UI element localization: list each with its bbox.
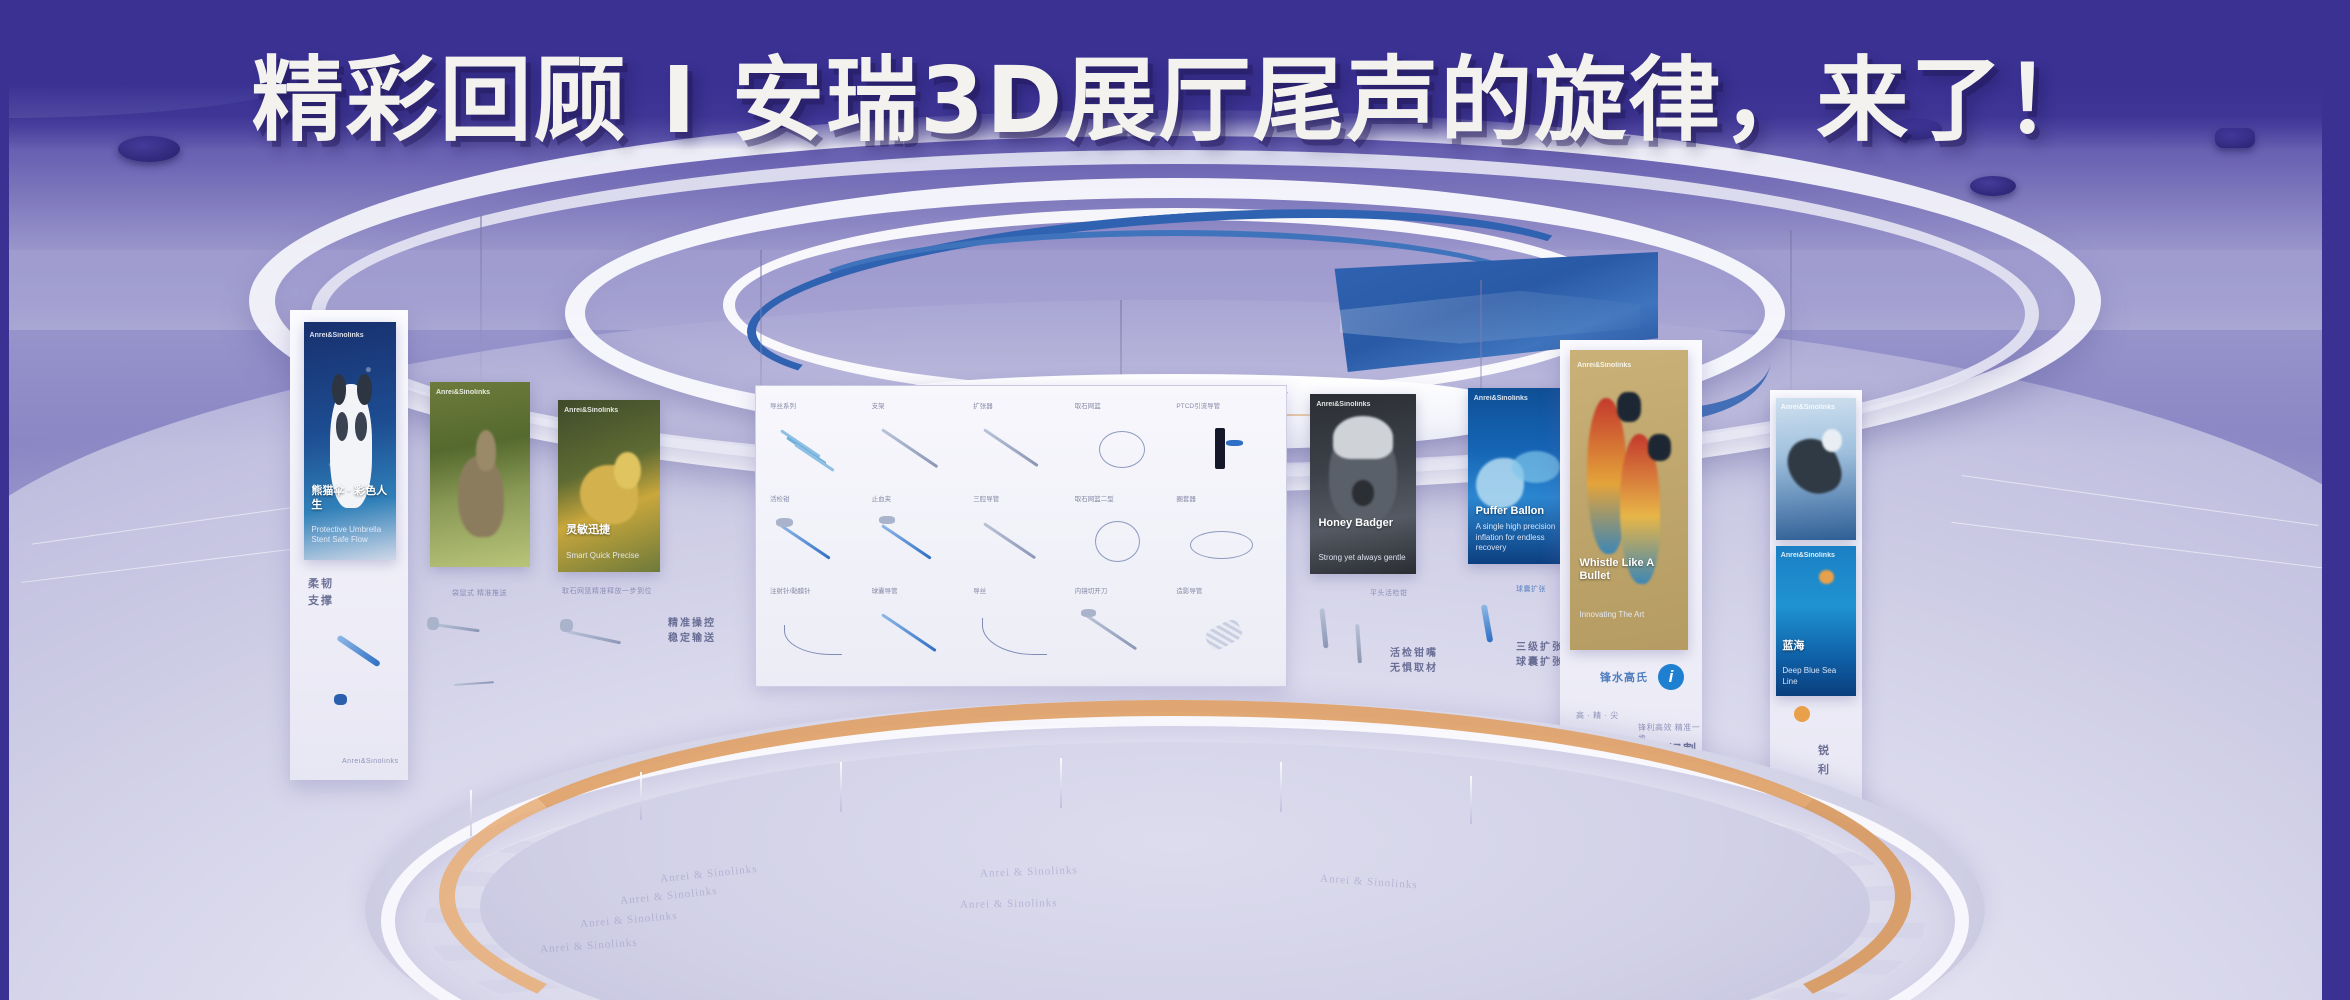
product-cell[interactable]: 造影导管 xyxy=(1174,585,1274,676)
panda-ear-icon xyxy=(357,374,372,405)
exhibition-hall-banner: Anrei&Sinolinks Keep Safe Keep Life Anre… xyxy=(0,0,2350,1000)
poster-brandtag: Anrei&Sinolinks xyxy=(1781,552,1835,559)
poster-title: Whistle Like A Bullet xyxy=(1579,557,1678,585)
product-cell[interactable]: 止血夹 xyxy=(870,493,970,584)
product-label: 扩张器 xyxy=(973,400,993,410)
poster-brandtag: Anrei&Sinolinks xyxy=(310,332,364,339)
poster-badger[interactable]: Anrei&Sinolinks Honey Badger Strong yet … xyxy=(1310,394,1416,574)
device-illustration xyxy=(1470,600,1510,710)
page-title: 精彩回顾 I 安瑞3D展厅尾声的旋律，来了！ xyxy=(0,26,2350,159)
railing-post xyxy=(840,762,842,812)
product-label: 造影导管 xyxy=(1176,585,1202,595)
poster-title: 灵敏迅捷 xyxy=(566,524,652,538)
poster-caption-en: 取石网篮精准释放一步到位 xyxy=(562,586,652,596)
product-cell[interactable]: 圈套器 xyxy=(1174,493,1274,584)
badger-crown-icon xyxy=(1333,416,1392,459)
product-label: 支架 xyxy=(872,400,885,410)
device-illustration xyxy=(334,630,404,740)
product-label: 内镜切开刀 xyxy=(1075,585,1108,595)
stand-eagle: Anrei&Sinolinks Anrei&Sinolinks 蓝海 Deep … xyxy=(1770,390,1862,810)
product-label: 圈套器 xyxy=(1176,493,1196,503)
poster-brandtag: Anrei&Sinolinks xyxy=(436,389,490,396)
poster-ocean[interactable]: Anrei&Sinolinks Puffer Ballon A single h… xyxy=(1468,388,1564,564)
product-cell[interactable]: 内镜切开刀 xyxy=(1073,585,1173,676)
left-edge-border xyxy=(0,0,9,1000)
product-cell[interactable]: 注射针/黏膜针 xyxy=(768,585,868,676)
sun-icon xyxy=(1819,570,1833,584)
product-cell[interactable]: PTCD引流导管 xyxy=(1174,400,1274,491)
poster-caption-en: 球囊扩张 xyxy=(1516,584,1546,594)
poster-brandtag: Anrei&Sinolinks xyxy=(564,407,618,414)
product-label: 止血夹 xyxy=(872,493,892,503)
poster-subtitle: A single high precision inflation for en… xyxy=(1476,522,1557,553)
poster-frog[interactable]: Anrei&Sinolinks 灵敏迅捷 Smart Quick Precise xyxy=(558,400,660,572)
product-cell[interactable]: 三腔导管 xyxy=(971,493,1071,584)
product-grid-panel[interactable]: 导丝系列 支架 扩张器 取石网篮 PTCD引流导管 活检钳 止血夹 三腔导管 取… xyxy=(755,385,1287,687)
badger-nose-icon xyxy=(1352,480,1373,505)
poster-title: 蓝海 xyxy=(1782,640,1849,654)
product-label: 注射针/黏膜针 xyxy=(770,585,811,595)
product-grid: 导丝系列 支架 扩张器 取石网篮 PTCD引流导管 活检钳 止血夹 三腔导管 取… xyxy=(768,400,1274,676)
product-label: 三腔导管 xyxy=(973,493,999,503)
poster-bird[interactable]: Anrei&Sinolinks Whistle Like A Bullet In… xyxy=(1570,350,1688,650)
poster-subtitle: Deep Blue Sea Line xyxy=(1782,666,1849,687)
kangaroo-head-icon xyxy=(476,430,496,471)
poster-title: Honey Badger xyxy=(1318,517,1407,531)
badge-letter: i xyxy=(1669,667,1674,687)
product-cell[interactable]: 导丝系列 xyxy=(768,400,868,491)
bird-beak-icon xyxy=(1617,392,1641,422)
stand-brand-cn: 锋水高氏 xyxy=(1600,670,1648,687)
product-cell[interactable]: 球囊导管 xyxy=(870,585,970,676)
railing-post xyxy=(1280,762,1282,812)
poster-caption-en: 袋鼠式 精准推送 xyxy=(452,588,507,598)
accent-badge-icon xyxy=(1794,706,1810,722)
device-illustration xyxy=(1346,618,1392,706)
right-edge-border xyxy=(2322,0,2350,1000)
poster-kangaroo[interactable]: Anrei&Sinolinks xyxy=(430,382,530,567)
poster-brandtag: Anrei&Sinolinks xyxy=(1577,362,1631,369)
poster-subtitle: Protective Umbrella Stent Safe Flow xyxy=(311,525,388,546)
poster-subtitle: Smart Quick Precise xyxy=(566,551,652,561)
product-cell[interactable]: 支架 xyxy=(870,400,970,491)
poster-caption-cn: 精准操控 稳定输送 xyxy=(668,616,716,646)
railing-post xyxy=(1060,758,1062,808)
stand-panda: Anrei&Sinolinks 熊猫伞 · 彩色人生 Protective Um… xyxy=(290,310,408,780)
product-label: 活检钳 xyxy=(770,493,790,503)
info-badge-icon: i xyxy=(1658,664,1684,690)
balloon-shaft-icon xyxy=(1512,451,1560,483)
poster-caption-cn: 锐 利 xyxy=(1818,742,1831,779)
frog-head-icon xyxy=(614,452,641,490)
chart-label: 高 · 精 · 尖 xyxy=(1576,710,1619,721)
poster-title: Puffer Ballon xyxy=(1476,505,1557,519)
poster-brandtag: Anrei&Sinolinks xyxy=(1781,404,1835,411)
poster-eagle[interactable]: Anrei&Sinolinks xyxy=(1776,398,1856,540)
railing-post xyxy=(1470,776,1472,824)
product-label: PTCD引流导管 xyxy=(1176,400,1220,410)
product-cell[interactable]: 导丝 xyxy=(971,585,1071,676)
product-label: 导丝 xyxy=(973,585,986,595)
poster-title: 熊猫伞 · 彩色人生 xyxy=(311,485,388,513)
poster-subtitle: Strong yet always gentle xyxy=(1318,553,1407,563)
poster-caption-en: 平头活检钳 xyxy=(1370,588,1408,598)
product-cell[interactable]: 扩张器 xyxy=(971,400,1071,491)
product-label: 球囊导管 xyxy=(872,585,898,595)
device-illustration xyxy=(450,666,516,710)
poster-brandtag: Anrei&Sinolinks xyxy=(1316,401,1370,408)
product-cell[interactable]: 取石网篮二型 xyxy=(1073,493,1173,584)
poster-caption-cn: 柔韧 支撑 xyxy=(308,576,334,609)
eagle-head-icon xyxy=(1822,429,1841,452)
product-label: 取石网篮 xyxy=(1075,400,1101,410)
product-label: 导丝系列 xyxy=(770,400,796,410)
ceiling-spotlight-icon xyxy=(1970,176,2016,196)
poster-subtitle: Innovating The Art xyxy=(1579,610,1678,620)
poster-sea[interactable]: Anrei&Sinolinks 蓝海 Deep Blue Sea Line xyxy=(1776,546,1856,696)
poster-caption-cn: 三级扩张 球囊扩张 xyxy=(1516,640,1564,670)
floor-text-row: Anrei & Sinolinks xyxy=(960,897,1058,911)
poster-caption-cn: 活检钳嘴 无惧取材 xyxy=(1390,646,1438,676)
bird-beak-icon xyxy=(1648,434,1672,461)
product-cell[interactable]: 活检钳 xyxy=(768,493,868,584)
panda-eye-icon xyxy=(355,412,367,441)
product-label: 取石网篮二型 xyxy=(1075,493,1114,503)
poster-brandtag: Anrei&Sinolinks xyxy=(1474,395,1528,402)
railing-post xyxy=(470,790,472,836)
railing-post xyxy=(640,772,642,820)
product-cell[interactable]: 取石网篮 xyxy=(1073,400,1173,491)
device-illustration xyxy=(430,608,502,658)
device-illustration xyxy=(562,612,640,664)
poster-caption-en: Anrei&Sinolinks xyxy=(342,758,399,765)
poster-panda[interactable]: Anrei&Sinolinks 熊猫伞 · 彩色人生 Protective Um… xyxy=(304,322,396,560)
